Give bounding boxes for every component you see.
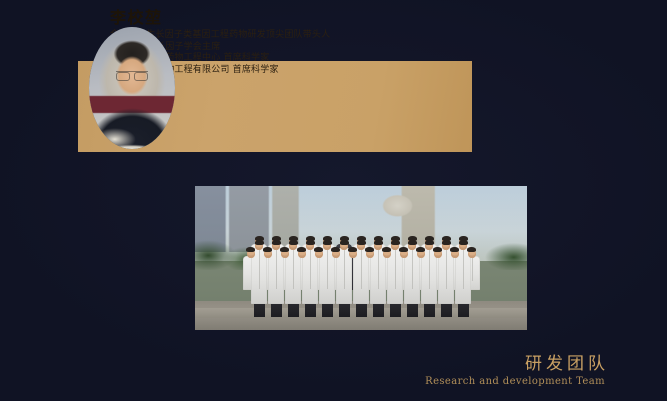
legs-shape bbox=[390, 303, 401, 317]
legs-shape bbox=[407, 303, 418, 317]
profile-credential-4: 安徽鑫华坤生物工程有限公司 首席科学家 bbox=[110, 65, 657, 77]
slide-canvas: 李校堃 全球FGF生长因子类基因工程药物研发顶尖团队带头人 国际华人生长因子学会… bbox=[0, 0, 667, 401]
head-shape bbox=[417, 249, 425, 258]
head-shape bbox=[357, 241, 365, 250]
head-shape bbox=[247, 249, 255, 258]
head-shape bbox=[468, 249, 476, 258]
legs-shape bbox=[339, 303, 350, 317]
caption-english: Research and development Team bbox=[425, 375, 605, 389]
caption-block: 研发团队 Research and development Team bbox=[425, 353, 605, 389]
head-shape bbox=[366, 249, 374, 258]
head-shape bbox=[298, 249, 306, 258]
head-shape bbox=[442, 241, 450, 250]
profile-credential-3: 国家基因工程药物工程中心 首席科学家 bbox=[110, 53, 657, 65]
head-shape bbox=[340, 241, 348, 250]
team-row-front bbox=[195, 241, 527, 317]
legs-shape bbox=[356, 303, 367, 317]
head-shape bbox=[255, 241, 263, 250]
legs-shape bbox=[441, 303, 452, 317]
legs-shape bbox=[288, 303, 299, 317]
head-shape bbox=[272, 241, 280, 250]
portrait-image bbox=[89, 27, 175, 149]
legs-shape bbox=[458, 303, 469, 317]
head-shape bbox=[264, 249, 272, 258]
head-shape bbox=[383, 249, 391, 258]
head-shape bbox=[400, 249, 408, 258]
head-shape bbox=[323, 241, 331, 250]
head-shape bbox=[408, 241, 416, 250]
legs-shape bbox=[271, 303, 282, 317]
head-shape bbox=[332, 249, 340, 258]
legs-shape bbox=[424, 303, 435, 317]
head-shape bbox=[315, 249, 323, 258]
head-shape bbox=[459, 241, 467, 250]
head-shape bbox=[349, 249, 357, 258]
legs-shape bbox=[322, 303, 333, 317]
profile-credential-1: 全球FGF生长因子类基因工程药物研发顶尖团队带头人 bbox=[110, 30, 657, 42]
legs-shape bbox=[254, 303, 265, 317]
head-shape bbox=[451, 249, 459, 258]
profile-name: 李校堃 bbox=[110, 8, 657, 28]
glasses-icon bbox=[116, 71, 148, 80]
profile-credential-2: 国际华人生长因子学会主席 bbox=[110, 42, 657, 54]
legs-shape bbox=[305, 303, 316, 317]
profile-text-block: 李校堃 全球FGF生长因子类基因工程药物研发顶尖团队带头人 国际华人生长因子学会… bbox=[110, 8, 657, 76]
team-photo bbox=[195, 186, 527, 330]
caption-chinese: 研发团队 bbox=[425, 353, 609, 375]
head-shape bbox=[391, 241, 399, 250]
head-shape bbox=[306, 241, 314, 250]
portrait-photo bbox=[89, 27, 175, 149]
head-shape bbox=[374, 241, 382, 250]
head-shape bbox=[425, 241, 433, 250]
legs-shape bbox=[373, 303, 384, 317]
head-shape bbox=[281, 249, 289, 258]
head-shape bbox=[434, 249, 442, 258]
head-shape bbox=[289, 241, 297, 250]
